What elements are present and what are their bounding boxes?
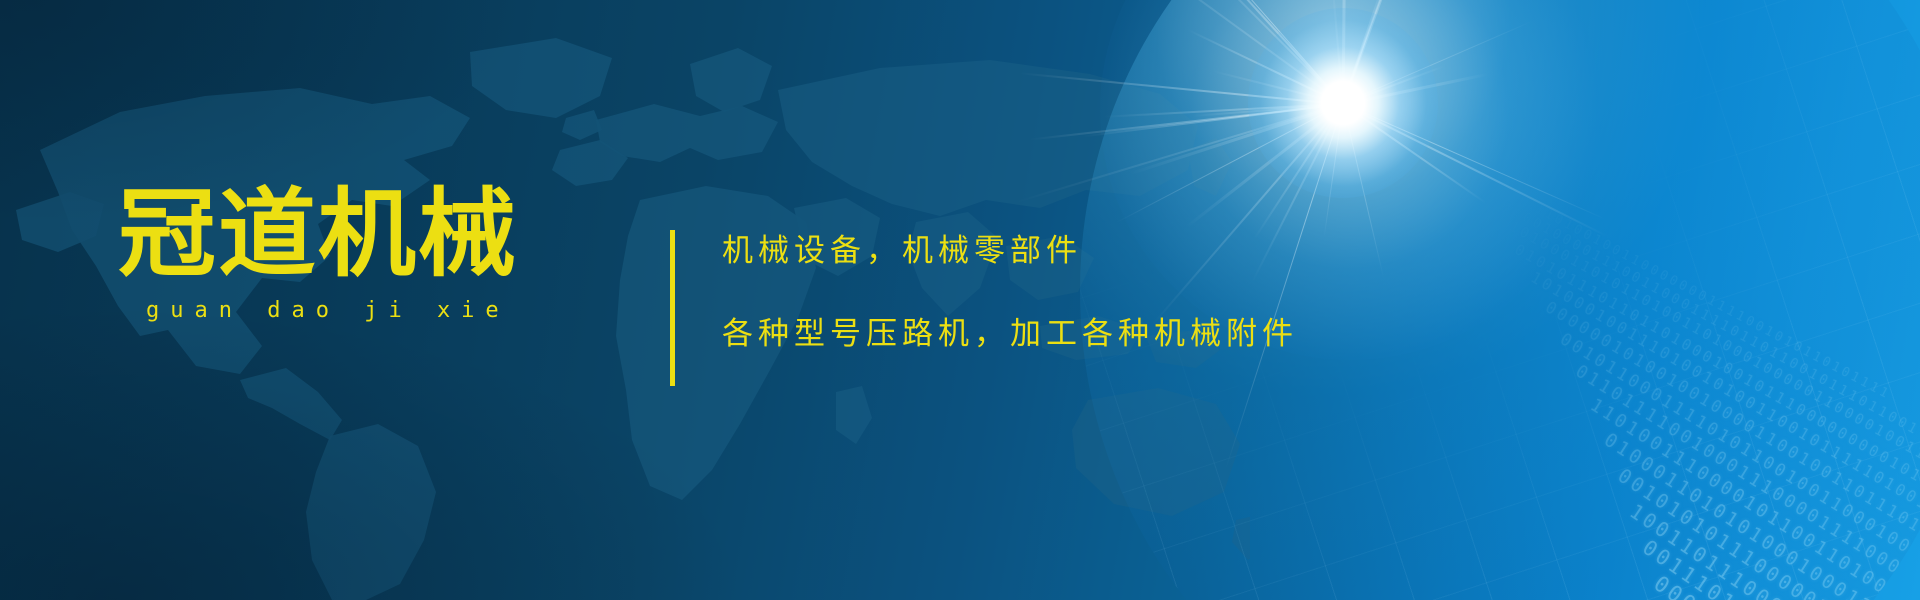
company-name-pinyin: guan dao ji xie bbox=[118, 298, 548, 323]
tagline-line-1: 机械设备，机械零部件 bbox=[722, 236, 1362, 267]
tagline-line-2: 各种型号压路机，加工各种机械附件 bbox=[722, 319, 1362, 350]
company-name-chinese: 冠道机械 bbox=[118, 186, 557, 282]
tagline-group: 机械设备，机械零部件 各种型号压路机，加工各种机械附件 bbox=[722, 236, 1362, 350]
vertical-divider bbox=[670, 230, 675, 386]
banner-content: 冠道机械 guan dao ji xie 机械设备，机械零部件 各种型号压路机，… bbox=[0, 0, 1920, 600]
promotional-banner: 0111011110100100110000000111100101011010… bbox=[0, 0, 1920, 600]
company-logo: 冠道机械 guan dao ji xie bbox=[118, 186, 548, 323]
